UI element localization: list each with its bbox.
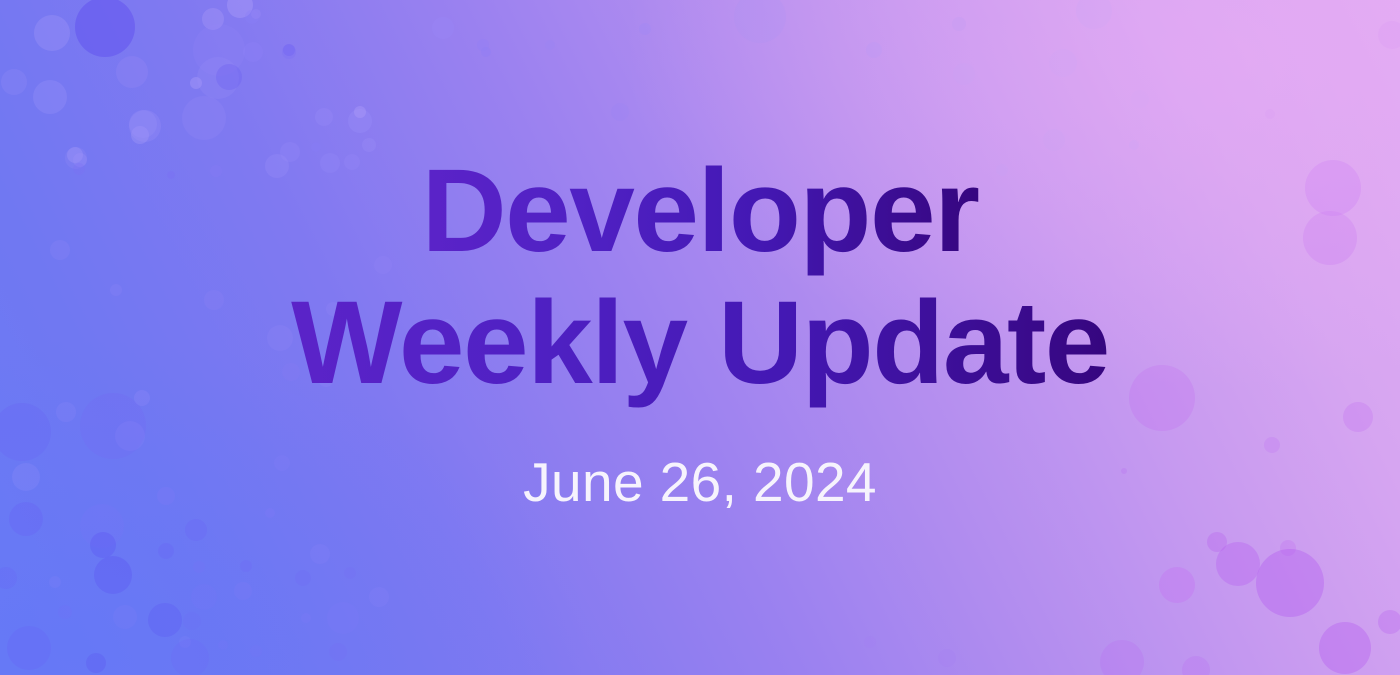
headline-block: Developer Weekly Update xyxy=(291,145,1109,409)
developer-weekly-update-banner: Developer Weekly Update June 26, 2024 xyxy=(0,0,1400,675)
page-title-line-1: Developer xyxy=(421,145,978,277)
banner-content: Developer Weekly Update June 26, 2024 xyxy=(0,0,1400,675)
issue-date: June 26, 2024 xyxy=(523,451,877,513)
page-title-line-2: Weekly Update xyxy=(291,277,1109,409)
